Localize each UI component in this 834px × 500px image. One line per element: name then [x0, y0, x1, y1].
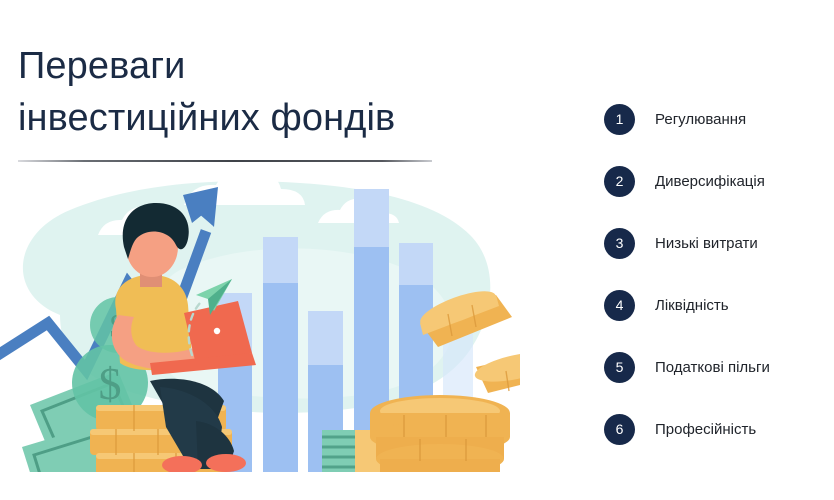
- benefit-label-2: Диверсифікація: [655, 173, 765, 190]
- flying-coin-lower: [472, 347, 520, 393]
- list-item[interactable]: 1 Регулювання: [604, 103, 834, 135]
- bar-2-lower: [263, 283, 298, 472]
- benefits-list: 1 Регулювання 2 Диверсифікація 3 Низькі …: [604, 103, 834, 445]
- bullet-number-4: 4: [604, 290, 635, 321]
- list-item[interactable]: 4 Ліквідність: [604, 289, 834, 321]
- bullet-number-1: 1: [604, 104, 635, 135]
- list-item[interactable]: 6 Професійність: [604, 413, 834, 445]
- coin-stack-right: [370, 395, 510, 475]
- svg-text:$: $: [99, 358, 122, 409]
- benefit-label-3: Низькі витрати: [655, 235, 758, 252]
- shoe-front: [206, 454, 246, 472]
- shoe-back: [162, 456, 202, 474]
- bullet-number-2: 2: [604, 166, 635, 197]
- investor-growth-illustration: $ $: [0, 175, 520, 475]
- bullet-number-5: 5: [604, 352, 635, 383]
- bullet-number-6: 6: [604, 414, 635, 445]
- benefit-label-6: Професійність: [655, 421, 756, 438]
- list-item[interactable]: 2 Диверсифікація: [604, 165, 834, 197]
- page-title: Переваги інвестиційних фондів: [18, 40, 448, 144]
- list-item[interactable]: 3 Низькі витрати: [604, 227, 834, 259]
- benefit-label-1: Регулювання: [655, 111, 746, 128]
- bullet-number-3: 3: [604, 228, 635, 259]
- title-line-1: Переваги: [18, 40, 448, 92]
- title-divider: [18, 160, 432, 162]
- list-item[interactable]: 5 Податкові пільги: [604, 351, 834, 383]
- slide-root: Переваги інвестиційних фондів: [0, 0, 834, 500]
- title-line-2: інвестиційних фондів: [18, 92, 448, 144]
- benefit-label-5: Податкові пільги: [655, 359, 770, 376]
- benefit-label-4: Ліквідність: [655, 297, 729, 314]
